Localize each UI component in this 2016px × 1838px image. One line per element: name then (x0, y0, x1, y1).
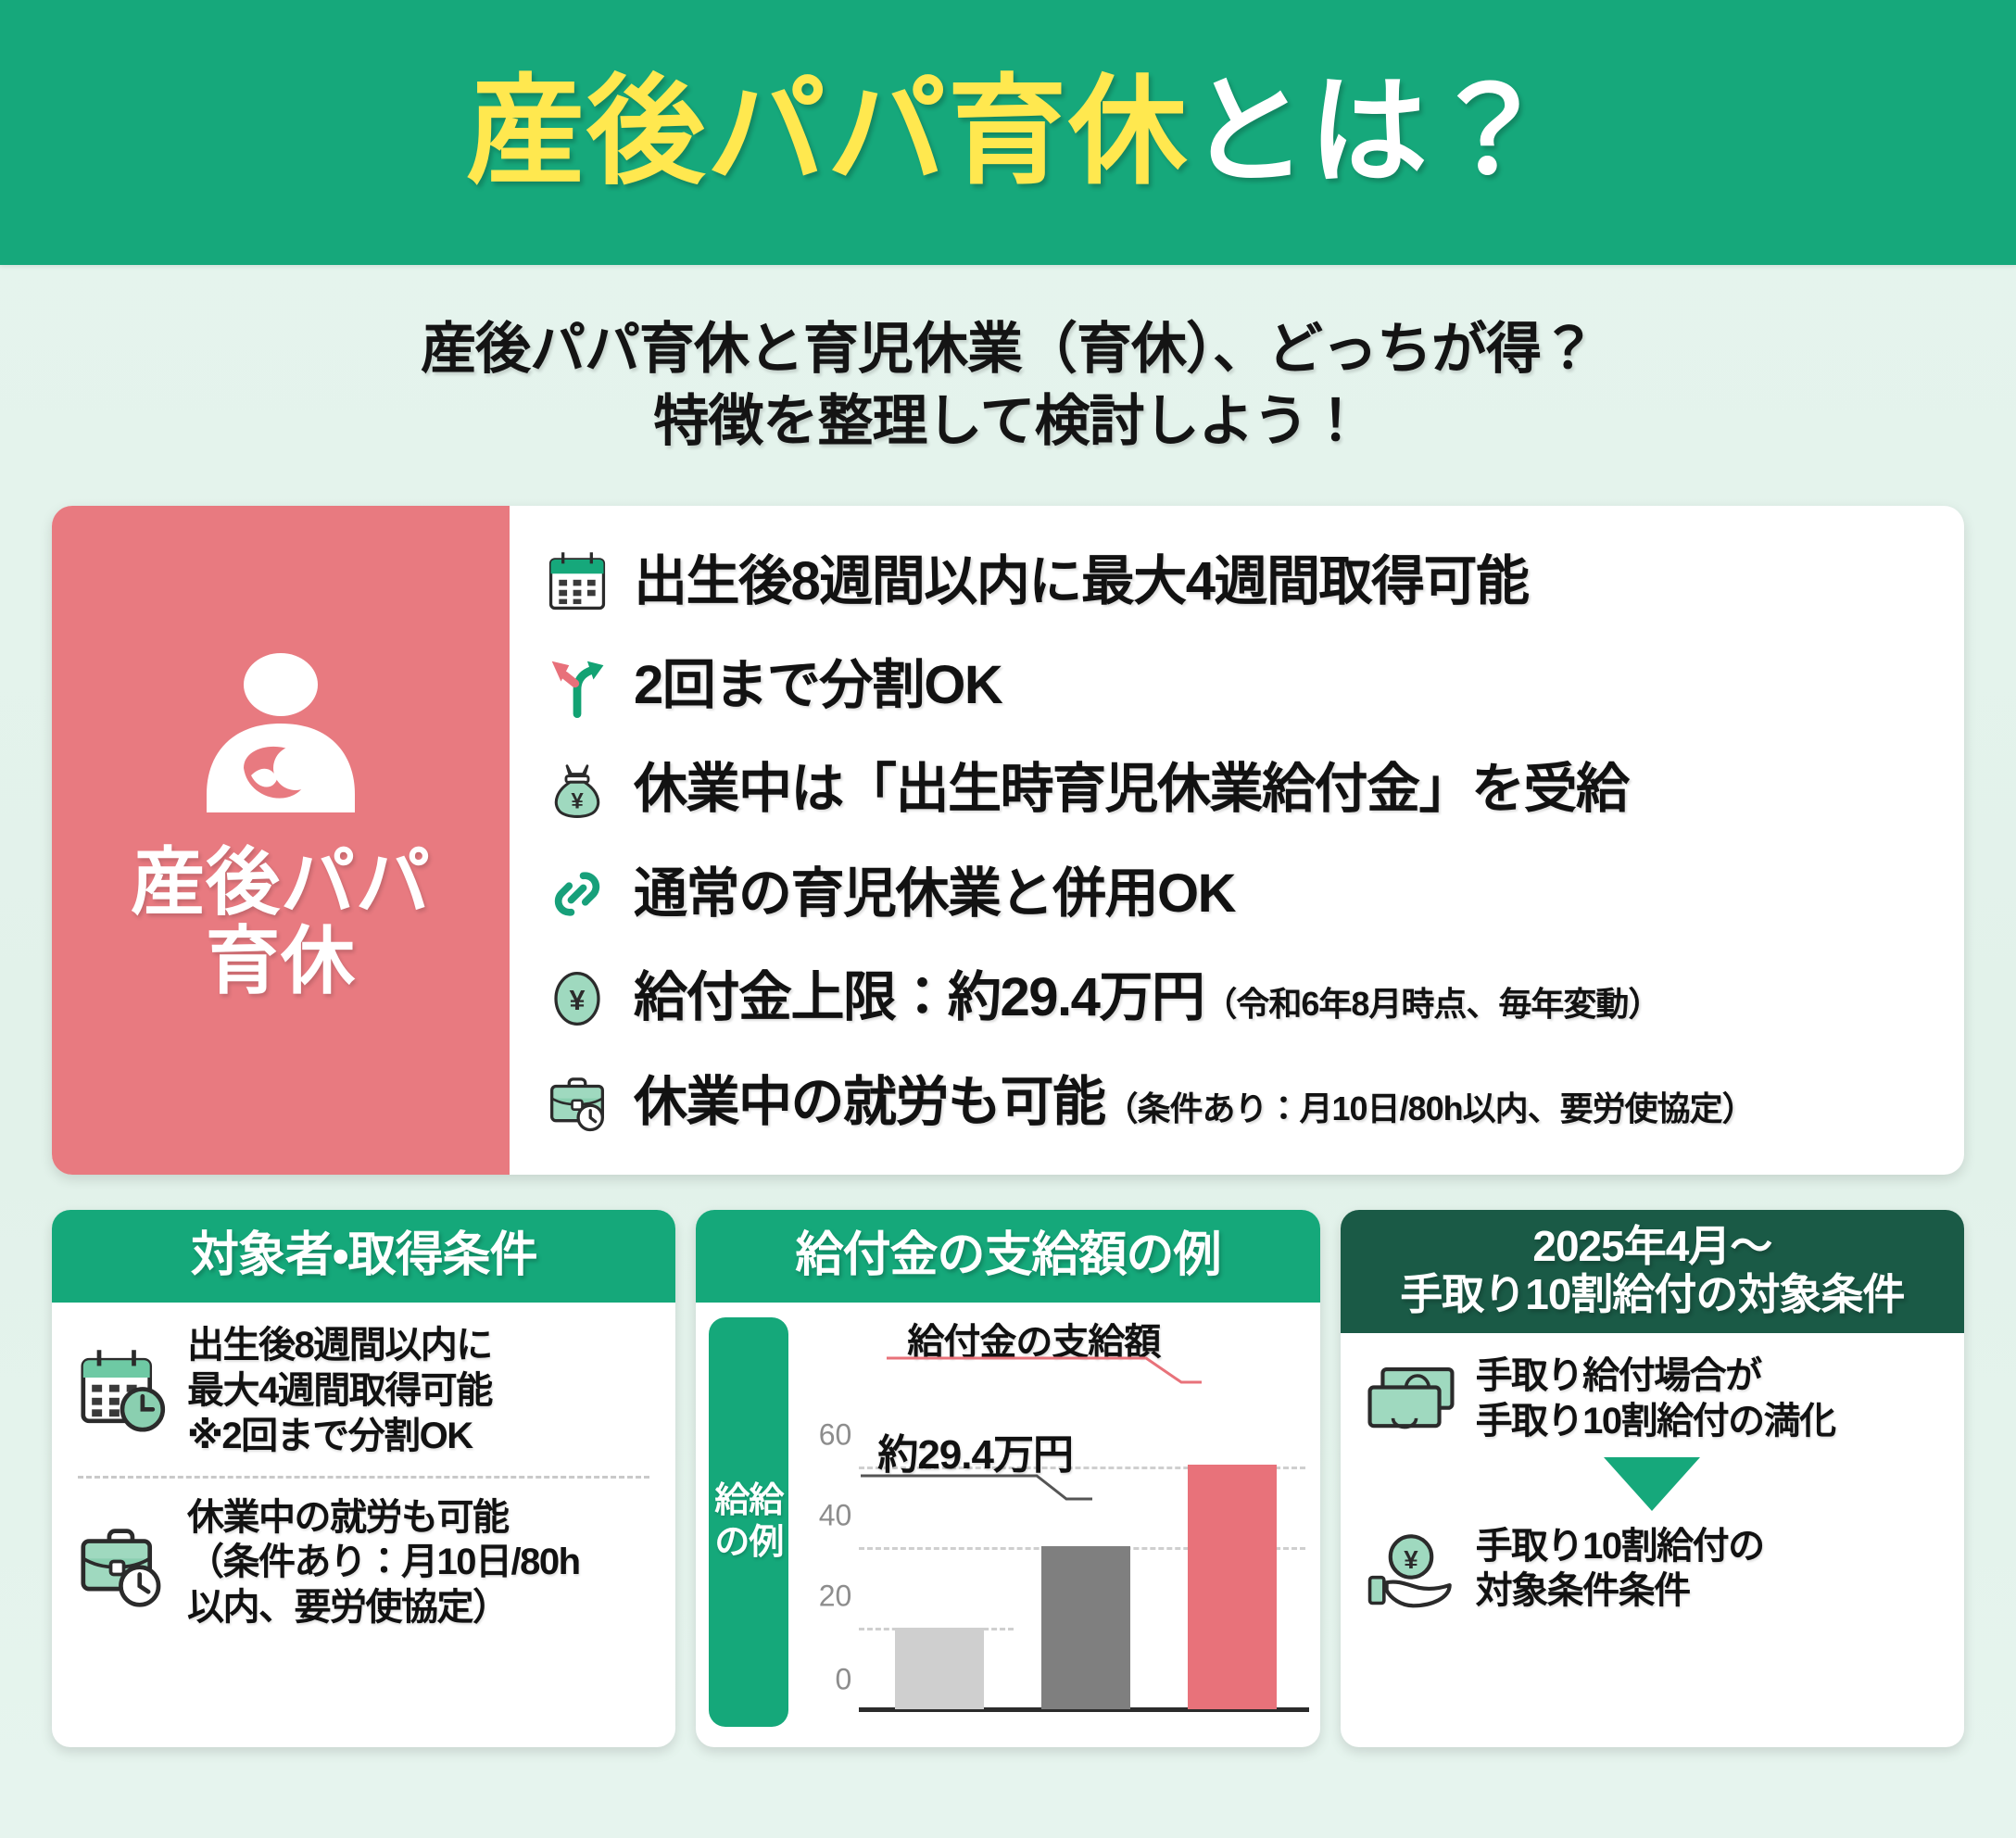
line: 手取り給付場合が (1476, 1353, 1835, 1399)
bullet-main-text: 休業中の就労も可能 (634, 1072, 1105, 1132)
card-benefit-chart-header: 給付金の支給額の例 (696, 1210, 1319, 1303)
subtitle-line-2: 特徴を整理して検討しよう！ (0, 385, 2016, 458)
y-tick-label: 60 (798, 1418, 851, 1453)
divider (78, 1476, 649, 1479)
line: 出生後8週間以内に (187, 1323, 492, 1368)
bar-series-1 (895, 1628, 984, 1709)
card-eligibility-header: 対象者・取得条件 (52, 1210, 675, 1303)
bullet-text: 通常の育児休業と併用OK (634, 865, 1235, 924)
line: 以内、要労使協定） (187, 1585, 580, 1630)
svg-text:¥: ¥ (569, 985, 585, 1016)
card-eligibility: 対象者・取得条件 (52, 1210, 675, 1747)
page-title-rest: とは？ (1189, 66, 1550, 198)
list-item: ¥ 手取り10割給付の 対象条件条件 (1363, 1524, 1942, 1615)
line: 休業中の就労も可能 (187, 1495, 580, 1541)
split-arrow-icon (541, 649, 613, 722)
line: 手取り10割給付の (1476, 1524, 1764, 1569)
page-title: 産後パパ育休とは？ (466, 73, 1550, 192)
bullet-item: 出生後8週間以内に最大4週間取得可能 (541, 534, 1940, 630)
bullet-text: 休業中の就労も可能（条件あり：月10日/80h以内、要労使協定） (634, 1074, 1755, 1132)
y-tick-label: 0 (798, 1663, 851, 1697)
list-item: 休業中の就労も可能 （条件あり：月10日/80h 以内、要労使協定） (74, 1495, 653, 1630)
y-tick-label: 40 (798, 1499, 851, 1533)
briefcase-clock-icon (74, 1517, 170, 1609)
hand-yen-coin-icon: ¥ (1363, 1528, 1459, 1609)
bullet-item: ¥ 給付金上限：約29.4万円（令和6年8月時点、毎年変動） (541, 950, 1940, 1047)
subtitle-line-1: 産後パパ育休と育児休業（育休）、どっちが得？ (0, 313, 2016, 385)
list-item: 出生後8週間以内に 最大4週間取得可能 ※2回まで分割OK (74, 1323, 653, 1458)
bullet-note-text: （条件あり：月10日/80h以内、要労使協定） (1105, 1089, 1755, 1127)
subtitle-block: 産後パパ育休と育児休業（育休）、どっちが得？ 特徴を整理して検討しよう！ (0, 265, 2016, 480)
pill-line1: 給給 (714, 1481, 783, 1520)
sango-papa-badge: 産後パパ 育休 (52, 506, 510, 1175)
chart-plot-area: 60 40 20 0 給付金の支給額 (798, 1308, 1310, 1740)
line: ※2回まで分割OK (187, 1414, 492, 1459)
y-tick-label: 20 (798, 1580, 851, 1614)
calendar-icon (541, 546, 613, 618)
line: （条件あり：月10日/80h (187, 1540, 580, 1585)
svg-text:¥: ¥ (571, 788, 584, 813)
line: 対象条件条件 (1476, 1568, 1764, 1614)
list-item-text: 出生後8週間以内に 最大4週間取得可能 ※2回まで分割OK (187, 1323, 492, 1458)
card-eligibility-body: 出生後8週間以内に 最大4週間取得可能 ※2回まで分割OK (52, 1303, 675, 1747)
header-line2: 手取り10割給付の対象条件 (1348, 1271, 1957, 1319)
header-line1: 2025年4月〜 (1348, 1223, 1957, 1271)
bullet-text: 休業中は「出生時育児休業給付金」を受給 (634, 761, 1629, 819)
triangle-down-icon (1604, 1457, 1700, 1511)
link-icon (541, 858, 613, 930)
feature-bullet-list: 出生後8週間以内に最大4週間取得可能 2回まで分割OK (510, 506, 1964, 1175)
line: 最大4週間取得可能 (187, 1368, 492, 1414)
page-title-highlight: 産後パパ育休 (466, 66, 1189, 198)
bullet-item: 2回まで分割OK (541, 637, 1940, 734)
leader-line-gray (861, 1473, 1092, 1503)
badge-label: 産後パパ 育休 (131, 844, 431, 1001)
bottom-card-row: 対象者・取得条件 (52, 1210, 1964, 1747)
list-item-text: 手取り10割給付の 対象条件条件 (1476, 1524, 1764, 1615)
yen-circle-icon: ¥ (541, 963, 613, 1035)
card-2025-conditions-body: 手取り給付場合が 手取り10割給付の満化 ¥ (1341, 1333, 1964, 1747)
bullet-item: 通常の育児休業と併用OK (541, 846, 1940, 942)
line: 手取り10割給付の満化 (1476, 1399, 1835, 1444)
main-feature-card: 産後パパ 育休 (52, 506, 1964, 1175)
card-2025-conditions-header: 2025年4月〜 手取り10割給付の対象条件 (1341, 1210, 1964, 1333)
bullet-text: 2回まで分割OK (634, 657, 1002, 715)
bar-chart: 給給 の例 60 40 20 0 (696, 1303, 1319, 1747)
list-item-text: 手取り給付場合が 手取り10割給付の満化 (1476, 1353, 1835, 1444)
bullet-note-text: （令和6年8月時点、毎年変動） (1203, 985, 1660, 1023)
bar-series-3 (1188, 1465, 1277, 1709)
chart-axis-pill-label: 給給 の例 (709, 1317, 788, 1727)
chart-annotation-amount: 約29.4万円 (877, 1421, 1073, 1480)
pill-line2: の例 (714, 1523, 783, 1562)
infographic-page: 産後パパ育休とは？ 産後パパ育休と育児休業（育休）、どっちが得？ 特徴を整理して… (0, 0, 2016, 1838)
pill-text: 給給 の例 (714, 1480, 783, 1564)
banknotes-icon (1363, 1360, 1459, 1438)
bullet-text: 出生後8週間以内に最大4週間取得可能 (634, 553, 1529, 611)
calendar-clock-icon (74, 1344, 170, 1437)
badge-label-line2: 育休 (206, 920, 356, 1002)
bullet-item: ¥ 休業中は「出生時育児休業給付金」を受給 (541, 742, 1940, 838)
badge-label-line1: 産後パパ (131, 841, 431, 924)
card-benefit-chart: 給付金の支給額の例 給給 の例 60 40 20 0 (696, 1210, 1319, 1747)
bullet-main-text: 給付金上限：約29.4万円 (634, 967, 1203, 1027)
parent-holding-baby-icon (188, 653, 373, 829)
bullet-item: 休業中の就労も可能（条件あり：月10日/80h以内、要労使協定） (541, 1054, 1940, 1151)
bar-series-2 (1041, 1546, 1130, 1709)
list-item: 手取り給付場合が 手取り10割給付の満化 (1363, 1353, 1942, 1444)
money-bag-icon: ¥ (541, 754, 613, 826)
list-item-text: 休業中の就労も可能 （条件あり：月10日/80h 以内、要労使協定） (187, 1495, 580, 1630)
card-2025-conditions: 2025年4月〜 手取り10割給付の対象条件 手取り給付場合が (1341, 1210, 1964, 1747)
header-banner: 産後パパ育休とは？ (0, 0, 2016, 265)
bullet-text: 給付金上限：約29.4万円（令和6年8月時点、毎年変動） (634, 969, 1660, 1027)
leader-line-red (887, 1354, 1202, 1388)
svg-text:¥: ¥ (1404, 1545, 1418, 1574)
briefcase-clock-icon (541, 1066, 613, 1139)
